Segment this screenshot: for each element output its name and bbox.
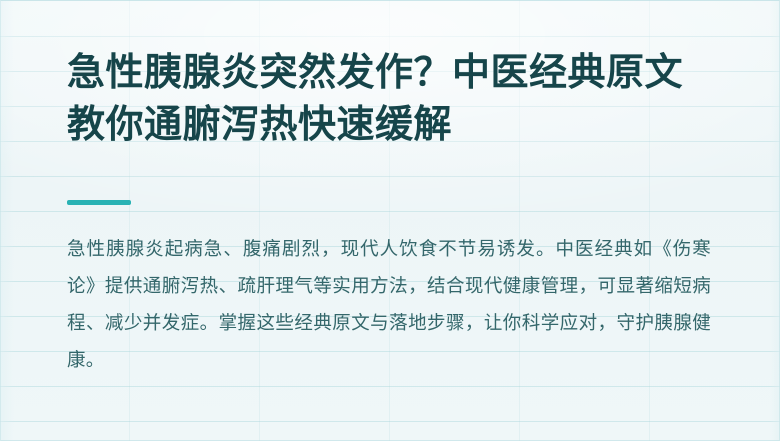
accent-divider-bar [67, 200, 131, 205]
article-cover-card: 急性胰腺炎突然发作？中医经典原文教你通腑泻热快速缓解 急性胰腺炎起病急、腹痛剧烈… [0, 0, 780, 441]
article-title: 急性胰腺炎突然发作？中医经典原文教你通腑泻热快速缓解 [67, 47, 717, 151]
article-summary-paragraph: 急性胰腺炎起病急、腹痛剧烈，现代人饮食不节易诱发。中医经典如《伤寒论》提供通腑泻… [67, 230, 711, 378]
card-content: 急性胰腺炎突然发作？中医经典原文教你通腑泻热快速缓解 急性胰腺炎起病急、腹痛剧烈… [67, 0, 737, 441]
